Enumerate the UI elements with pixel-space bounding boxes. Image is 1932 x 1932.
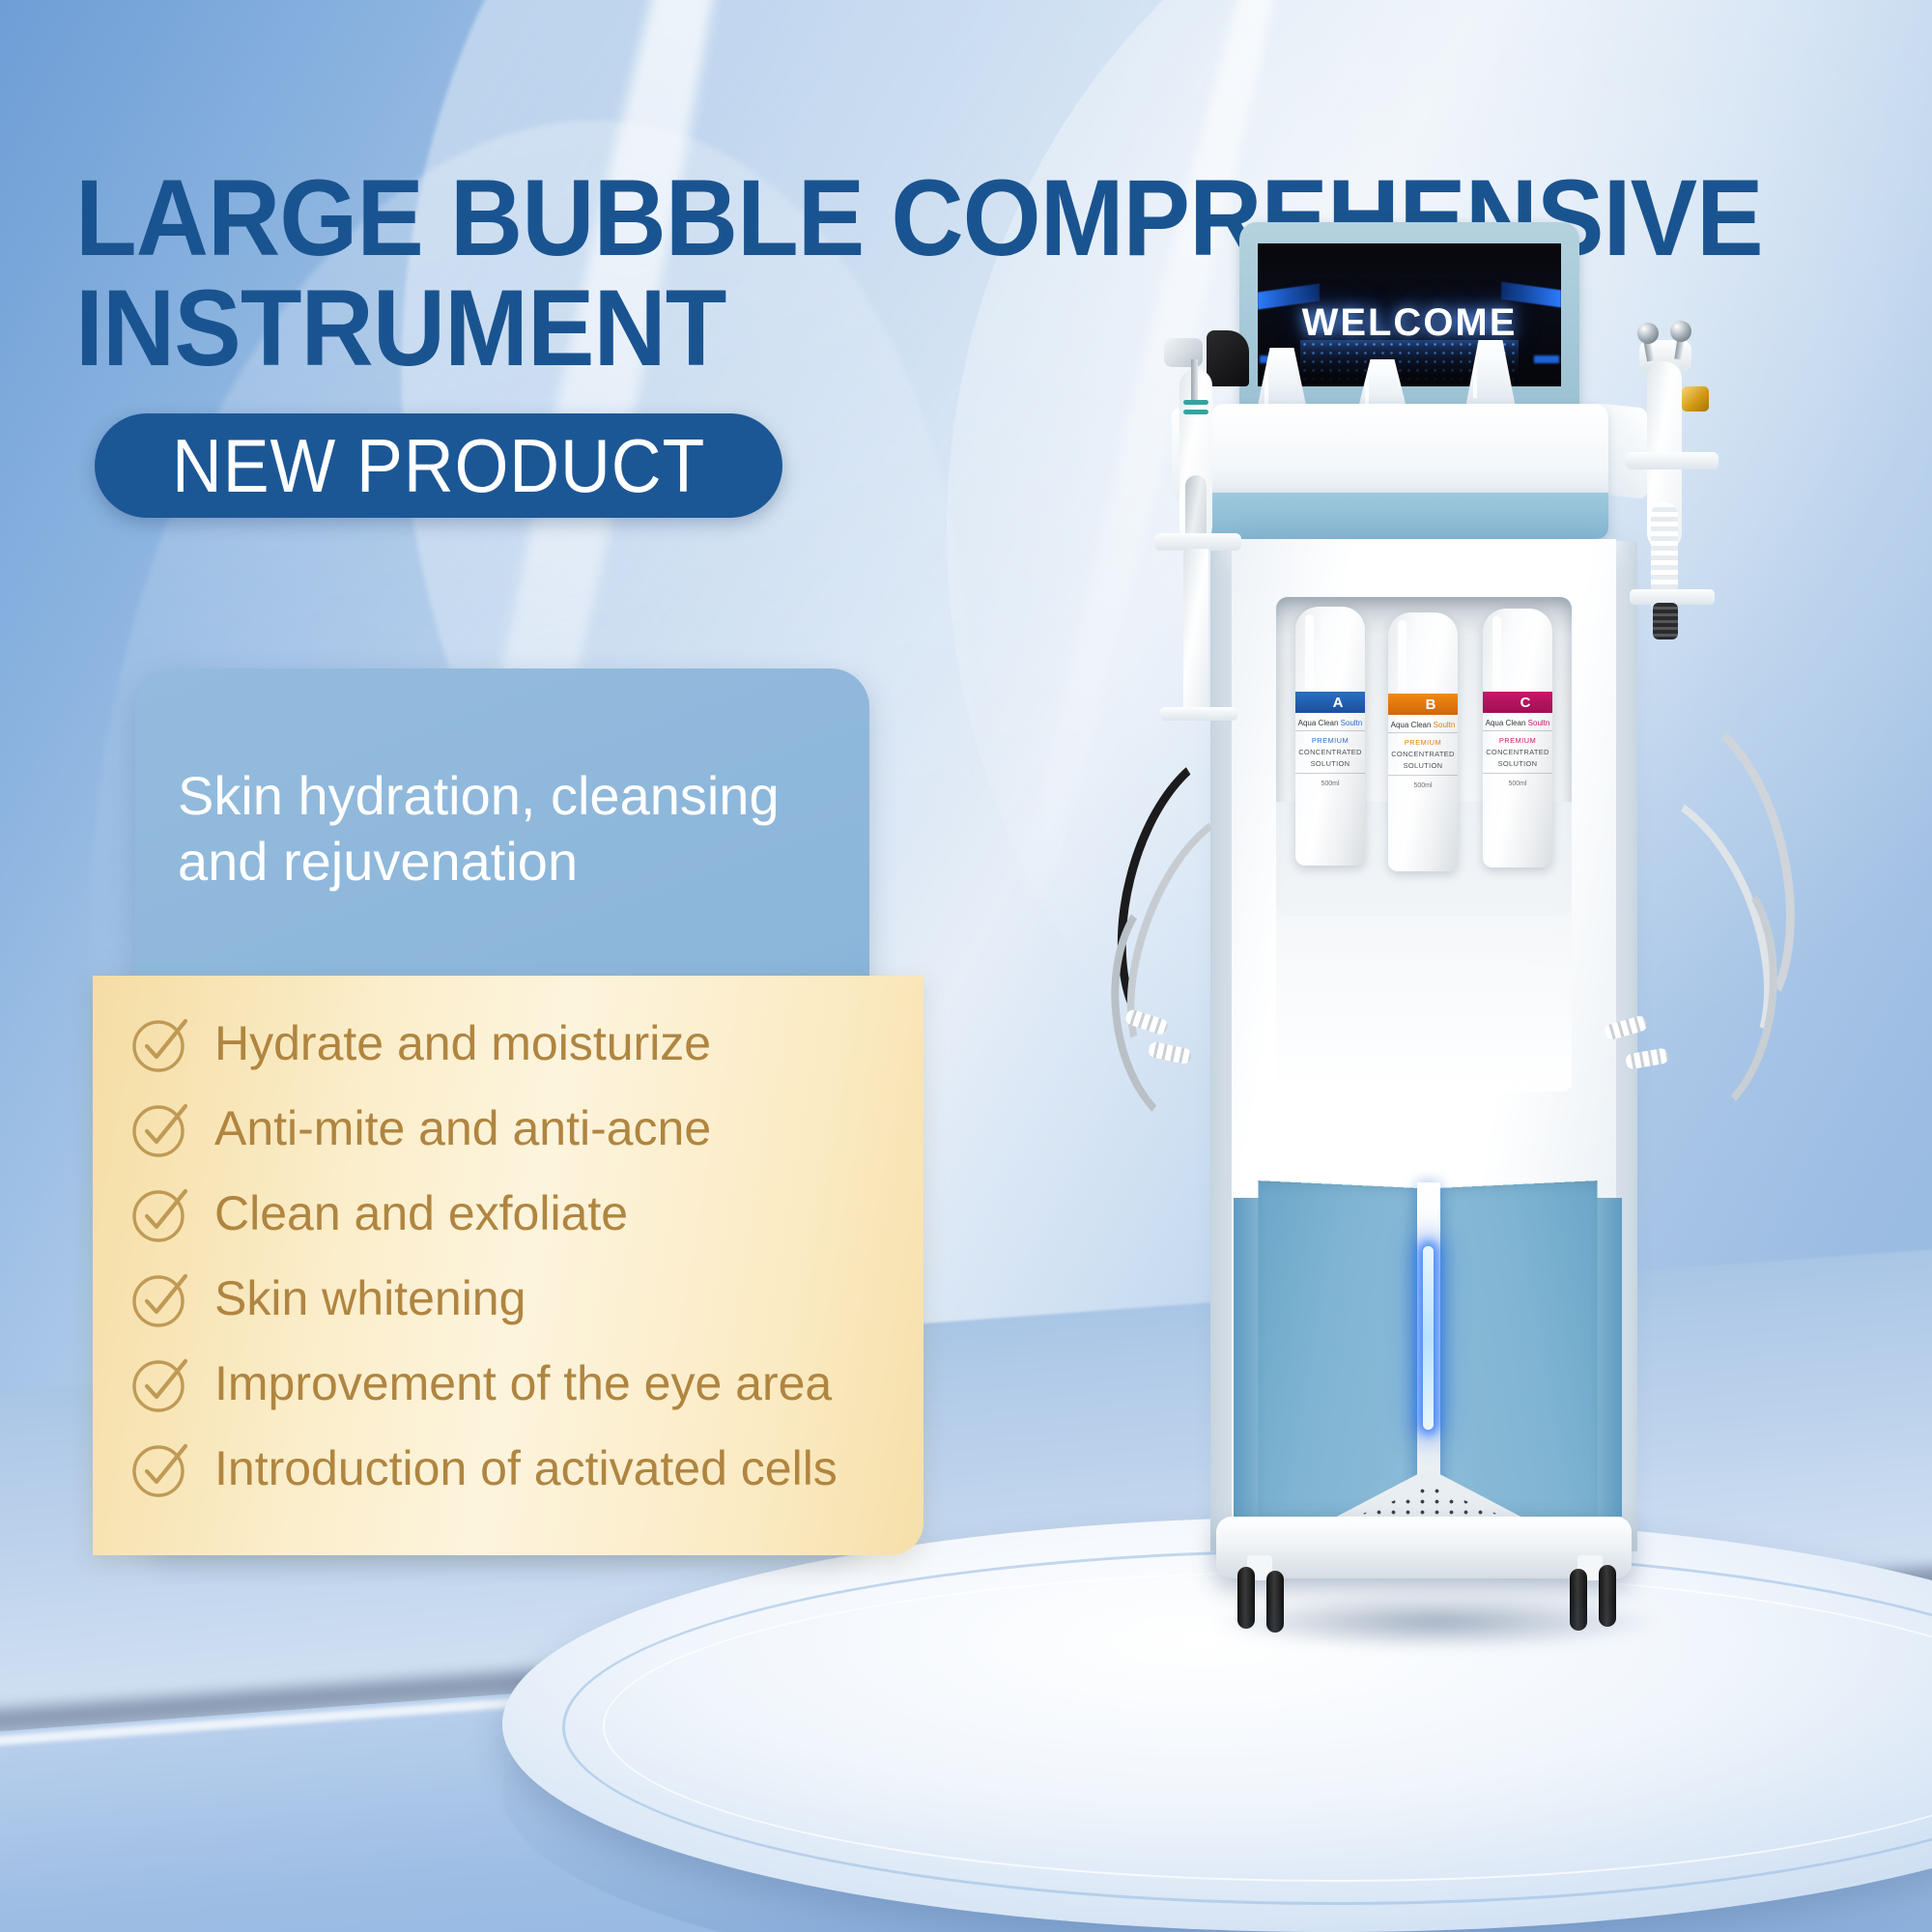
handpiece-left-neck	[1191, 359, 1198, 402]
handpiece-right-roller-1	[1637, 323, 1659, 344]
handpiece-right-holder-upper	[1626, 452, 1719, 469]
feature-item: Skin whitening	[93, 1256, 923, 1341]
led-indicator-strip	[1423, 1246, 1434, 1430]
handpiece-left-black-cap	[1207, 330, 1249, 386]
machine-ground-shadow	[1208, 1594, 1662, 1650]
check-circle-icon	[126, 1263, 197, 1334]
top-unit-white-panel	[1210, 404, 1608, 497]
machine-base	[1216, 1517, 1632, 1578]
bottle-premium-c: PREMIUM	[1483, 736, 1552, 745]
bottle-letter-a: A	[1333, 695, 1344, 711]
bottle-line1-c: CONCENTRATED	[1483, 748, 1552, 756]
feature-label: Anti-mite and anti-acne	[214, 1104, 711, 1152]
lower-side-strip-left	[1234, 1198, 1259, 1517]
bottle-line2-a: SOLUTION	[1295, 759, 1365, 768]
new-product-badge[interactable]: NEW PRODUCT	[95, 413, 782, 518]
bottle-brand-a: Aqua Clean Soultn	[1295, 719, 1365, 727]
feature-label: Hydrate and moisturize	[214, 1019, 711, 1067]
bottle-line2-b: SOLUTION	[1388, 761, 1458, 770]
check-circle-icon	[126, 1178, 197, 1249]
check-circle-icon	[126, 1348, 197, 1419]
product-poster: LARGE BUBBLE COMPREHENSIVE INSTRUMENT NE…	[0, 0, 1932, 1932]
bottle-volume-c: 500ml	[1483, 781, 1552, 787]
handpiece-left-ring-2	[1183, 410, 1208, 414]
feature-item: Clean and exfoliate	[93, 1171, 923, 1256]
bottle-premium-b: PREMIUM	[1388, 738, 1458, 747]
bottle-hairline-top	[1388, 732, 1458, 733]
feature-item: Anti-mite and anti-acne	[93, 1086, 923, 1171]
feature-item: Introduction of activated cells	[93, 1426, 923, 1511]
bottle-band-c: C	[1483, 692, 1552, 713]
bottle-hairline-bottom	[1295, 773, 1365, 774]
new-product-badge-label: NEW PRODUCT	[172, 422, 705, 510]
feature-list-panel: Hydrate and moisturizeAnti-mite and anti…	[93, 976, 923, 1555]
feature-label: Skin whitening	[214, 1274, 526, 1322]
check-circle-icon	[126, 1433, 197, 1504]
bottle-volume-a: 500ml	[1295, 781, 1365, 787]
bottle-hairline-top	[1483, 730, 1552, 731]
bottle-brand-b: Aqua Clean Soultn	[1388, 721, 1458, 729]
bottle-band-a: A	[1295, 692, 1365, 713]
bottle-hairline-bottom	[1388, 775, 1458, 776]
feature-label: Introduction of activated cells	[214, 1444, 838, 1492]
screen-glow-right-lower	[1534, 355, 1559, 363]
bottle-line2-c: SOLUTION	[1483, 759, 1552, 768]
bottle-brand-c: Aqua Clean Soultn	[1483, 719, 1552, 727]
handpiece-right[interactable]	[1626, 319, 1761, 753]
bottle-line1-a: CONCENTRATED	[1295, 748, 1365, 756]
check-circle-icon	[126, 1008, 197, 1079]
bottle-line1-b: CONCENTRATED	[1388, 750, 1458, 758]
feature-label: Improvement of the eye area	[214, 1359, 832, 1407]
screen-welcome-text: WELCOME	[1258, 301, 1561, 345]
feature-list: Hydrate and moisturizeAnti-mite and anti…	[93, 1001, 923, 1511]
handpiece-left-holder-lower	[1160, 707, 1237, 721]
solution-bottle-a[interactable]: A Aqua Clean Soultn PREMIUM CONCENTRATED…	[1295, 607, 1365, 866]
feature-label: Clean and exfoliate	[214, 1189, 628, 1237]
handpiece-right-connector	[1653, 603, 1678, 639]
subtitle-text: Skin hydration, cleansing and rejuvenati…	[178, 763, 835, 895]
monitor-screen[interactable]: WELCOME	[1258, 243, 1561, 386]
handpiece-right-roller-2	[1670, 321, 1691, 342]
feature-item: Improvement of the eye area	[93, 1341, 923, 1426]
handpiece-right-gold-tip	[1682, 386, 1709, 412]
feature-item: Hydrate and moisturize	[93, 1001, 923, 1086]
bottle-hairline-bottom	[1483, 773, 1552, 774]
check-circle-icon	[126, 1093, 197, 1164]
handpiece-left-stem	[1183, 549, 1208, 711]
lower-panel-left[interactable]	[1259, 1180, 1419, 1524]
bottle-volume-b: 500ml	[1388, 782, 1458, 789]
bottle-band-b: B	[1388, 694, 1458, 715]
bottle-premium-a: PREMIUM	[1295, 736, 1365, 745]
bottle-shine	[1305, 614, 1314, 856]
top-unit-blue-band	[1210, 493, 1608, 539]
bottle-letter-c: C	[1520, 695, 1531, 711]
bottle-hairline-top	[1295, 730, 1365, 731]
lower-panel-right[interactable]	[1436, 1180, 1597, 1524]
bottle-letter-b: B	[1426, 696, 1436, 713]
handpiece-left-ring-1	[1183, 400, 1208, 405]
solution-bottle-c[interactable]: C Aqua Clean Soultn PREMIUM CONCENTRATED…	[1483, 609, 1552, 867]
solution-bottle-b[interactable]: B Aqua Clean Soultn PREMIUM CONCENTRATED…	[1388, 612, 1458, 871]
hydrafacial-machine: WELCOME A Aqua Clean Soultn PREMIUM CONC…	[1067, 222, 1821, 1864]
handpiece-left[interactable]	[1151, 330, 1243, 746]
lower-side-strip-right	[1597, 1198, 1622, 1517]
